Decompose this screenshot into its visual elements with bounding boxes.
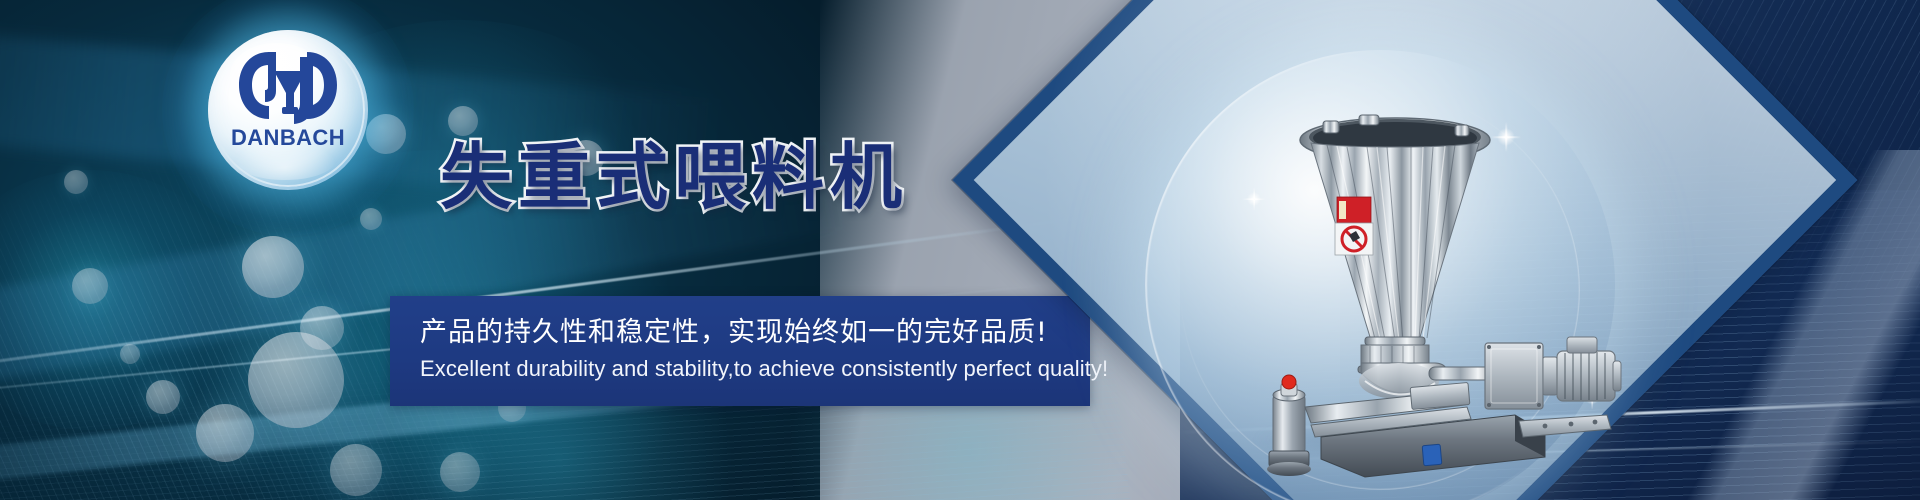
product-banner: DANBACH 失重式喂料机 产品的持久性和稳定性，实现始终如一的完好品质! E… xyxy=(0,0,1920,500)
product-showcase xyxy=(1085,0,1725,500)
loss-in-weight-feeder-image xyxy=(1215,85,1635,500)
tagline-english: Excellent durability and stability,to ac… xyxy=(420,356,1108,382)
tagline-box: 产品的持久性和稳定性，实现始终如一的完好品质! Excellent durabi… xyxy=(390,296,1090,406)
brand-wordmark: DANBACH xyxy=(208,125,368,151)
page-title: 失重式喂料机 xyxy=(440,118,908,223)
danbach-monogram-icon xyxy=(236,49,340,127)
warning-no-hands-label xyxy=(1335,197,1373,255)
brand-logo[interactable]: DANBACH xyxy=(208,30,368,190)
tagline-chinese: 产品的持久性和稳定性，实现始终如一的完好品质! xyxy=(420,310,1048,349)
